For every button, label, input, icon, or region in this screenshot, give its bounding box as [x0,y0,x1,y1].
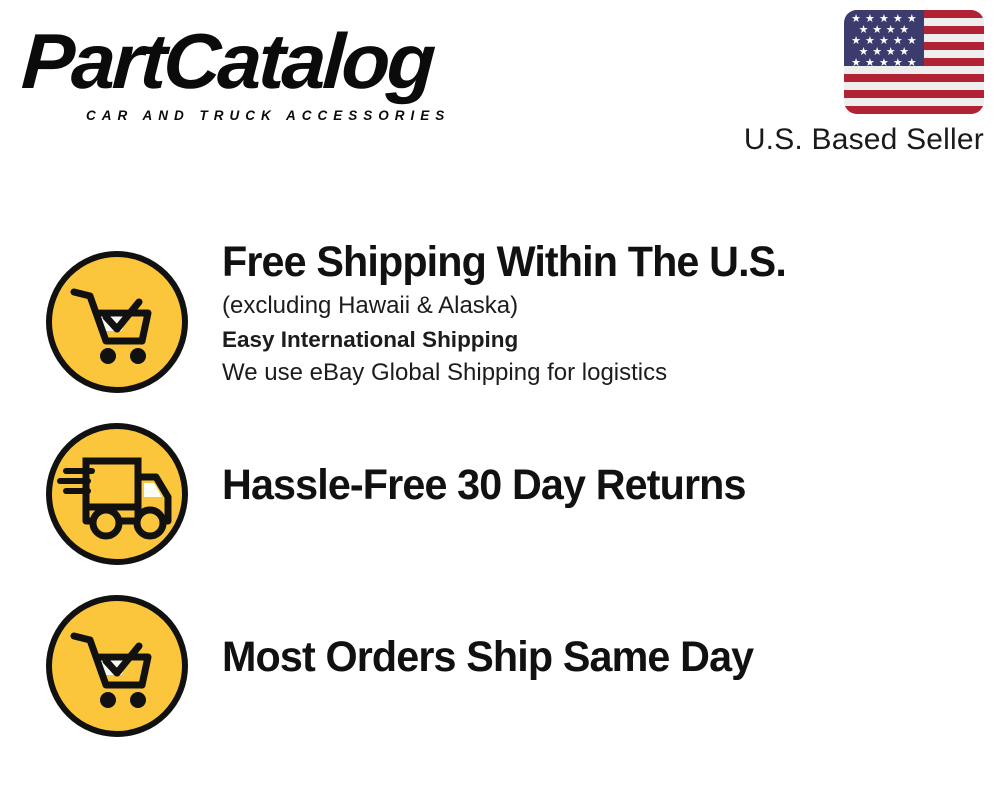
us-based-seller-label: U.S. Based Seller [714,123,984,157]
flag-star-row: ★ ★ ★ ★ ★ [847,58,921,69]
feature-row: Free Shipping Within The U.S. (excluding… [0,242,1000,414]
feature-text-block: Hassle-Free 30 Day Returns [222,460,980,510]
star-icon: ★ [907,58,917,69]
feature-row: Hassle-Free 30 Day Returns [0,414,1000,586]
feature-subtitle-international: Easy International Shipping [222,323,980,356]
delivery-truck-icon [44,421,190,567]
us-flag-icon: ★ ★ ★ ★ ★ ★ ★ ★ ★ ★ ★ ★ ★ ★ [844,10,984,114]
star-icon: ★ [851,58,861,69]
us-based-seller-badge: ★ ★ ★ ★ ★ ★ ★ ★ ★ ★ ★ ★ ★ ★ [714,10,984,157]
brand-logo: PartCatalog CAR AND TRUCK ACCESSORIES [24,22,494,122]
feature-subtitle-logistics: We use eBay Global Shipping for logistic… [222,356,980,390]
star-icon: ★ [893,58,903,69]
promo-banner: PartCatalog CAR AND TRUCK ACCESSORIES [0,0,1000,800]
feature-list: Free Shipping Within The U.S. (excluding… [0,242,1000,758]
shopping-cart-check-icon [44,249,190,395]
feature-title: Most Orders Ship Same Day [222,632,950,682]
flag-canton: ★ ★ ★ ★ ★ ★ ★ ★ ★ ★ ★ ★ ★ ★ [844,10,924,66]
star-icon: ★ [865,58,875,69]
feature-text-block: Free Shipping Within The U.S. (excluding… [222,237,980,390]
feature-text-block: Most Orders Ship Same Day [222,632,980,682]
brand-wordmark: PartCatalog [20,22,504,100]
shopping-cart-check-icon [44,593,190,739]
feature-row: Most Orders Ship Same Day [0,586,1000,758]
feature-title: Hassle-Free 30 Day Returns [222,460,950,510]
brand-tagline: CAR AND TRUCK ACCESSORIES [86,108,450,123]
feature-title: Free Shipping Within The U.S. [222,237,950,287]
feature-subtitle-exclusions: (excluding Hawaii & Alaska) [222,289,980,323]
star-icon: ★ [879,58,889,69]
